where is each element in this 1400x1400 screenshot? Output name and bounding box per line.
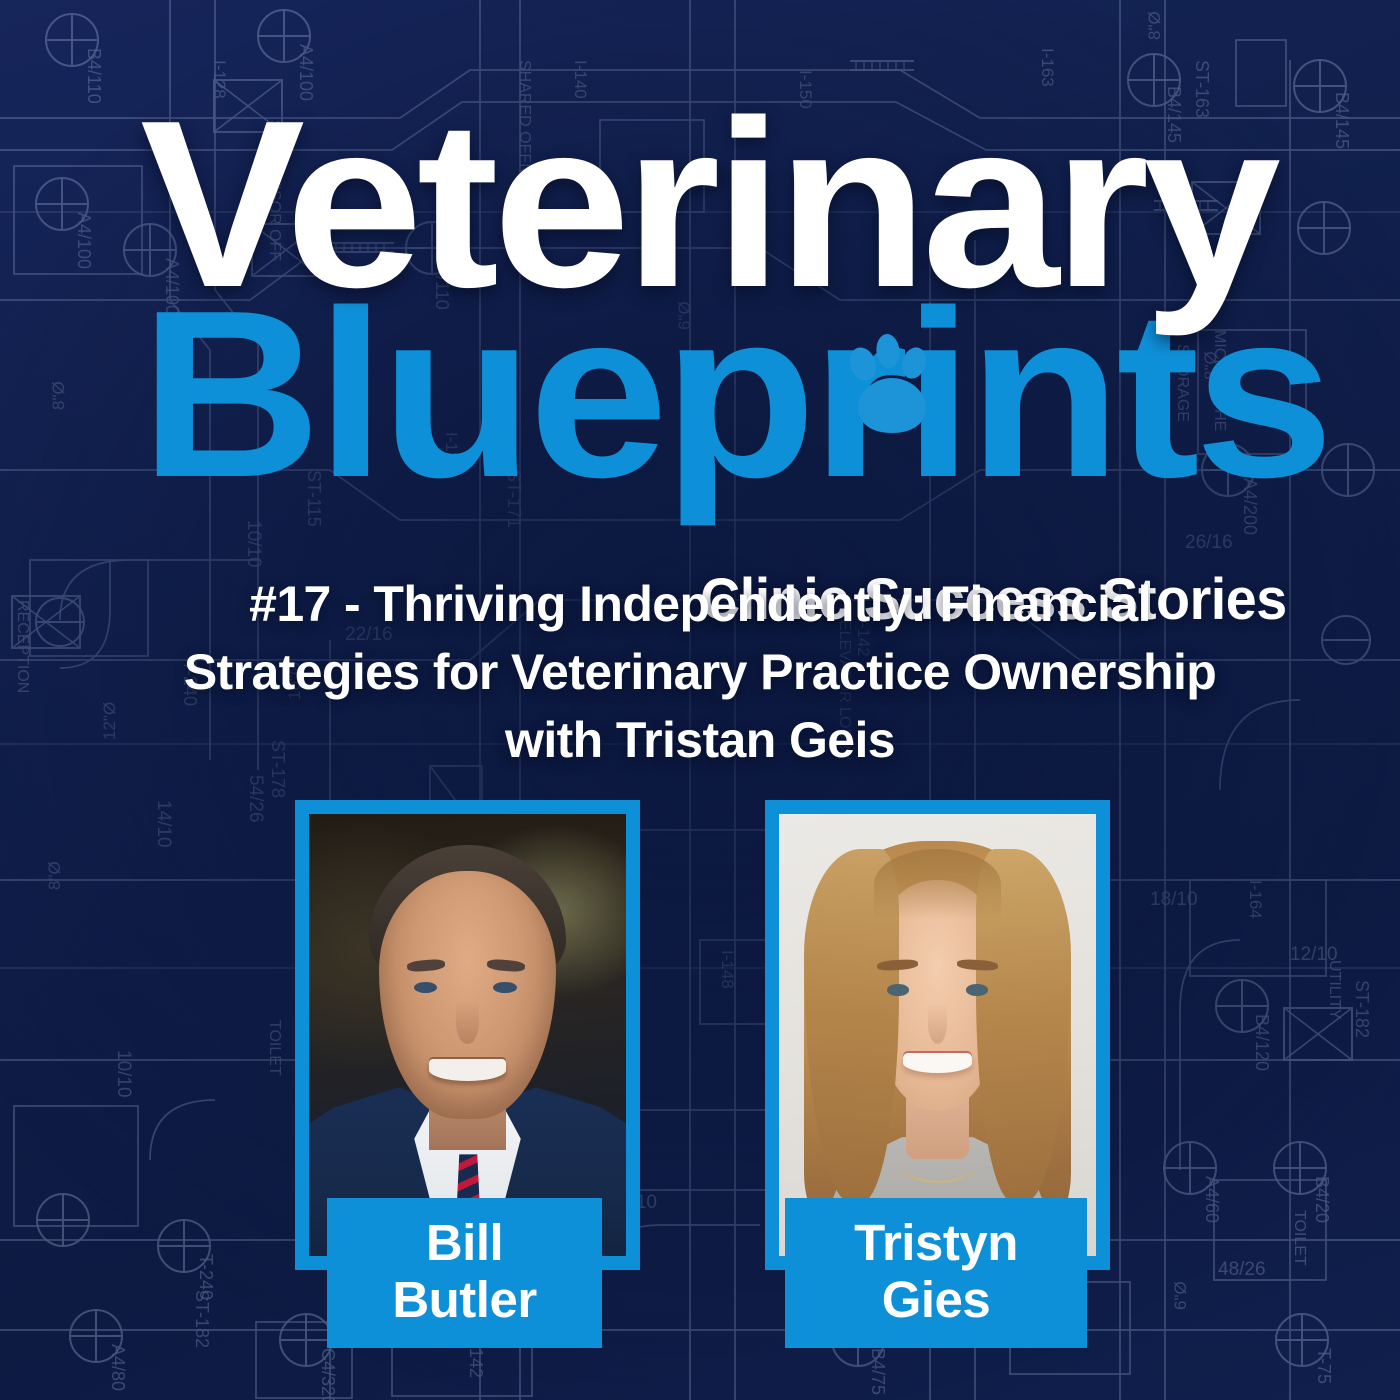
podcast-cover-art: SUPERVISOR OFF SHARED OFFICE MICROFICHE … (0, 0, 1400, 1400)
episode-title: #17 - Thriving Independently: Financial … (130, 570, 1270, 774)
guest-first-name: Bill (327, 1214, 602, 1271)
guest-first-name: Tristyn (785, 1214, 1087, 1271)
guest-photo-tristyn-gies (779, 814, 1096, 1256)
paw-print-icon (846, 334, 938, 438)
guest-last-name: Gies (785, 1271, 1087, 1328)
guest-last-name: Butler (327, 1271, 602, 1328)
guest-section: Bill Butler (0, 800, 1400, 1360)
guest-photo-bill-butler (309, 814, 626, 1256)
guest-name-banner-bill-butler: Bill Butler (327, 1198, 602, 1348)
brand-word-veterinary: Veterinary (140, 88, 1315, 321)
brand-wordmark: Veterinary Blueprints Clinic Success Sto… (0, 88, 1400, 558)
svg-text:RECEPTION: RECEPTION (14, 600, 31, 693)
guest-card-bill-butler: Bill Butler (295, 800, 640, 1270)
svg-text:8"Ø: 8"Ø (1145, 11, 1164, 40)
guest-name-banner-tristyn-gies: Tristyn Gies (785, 1198, 1087, 1348)
guest-card-tristyn-gies: Tristyn Gies (765, 800, 1110, 1270)
svg-text:12"Ø: 12"Ø (100, 702, 119, 740)
